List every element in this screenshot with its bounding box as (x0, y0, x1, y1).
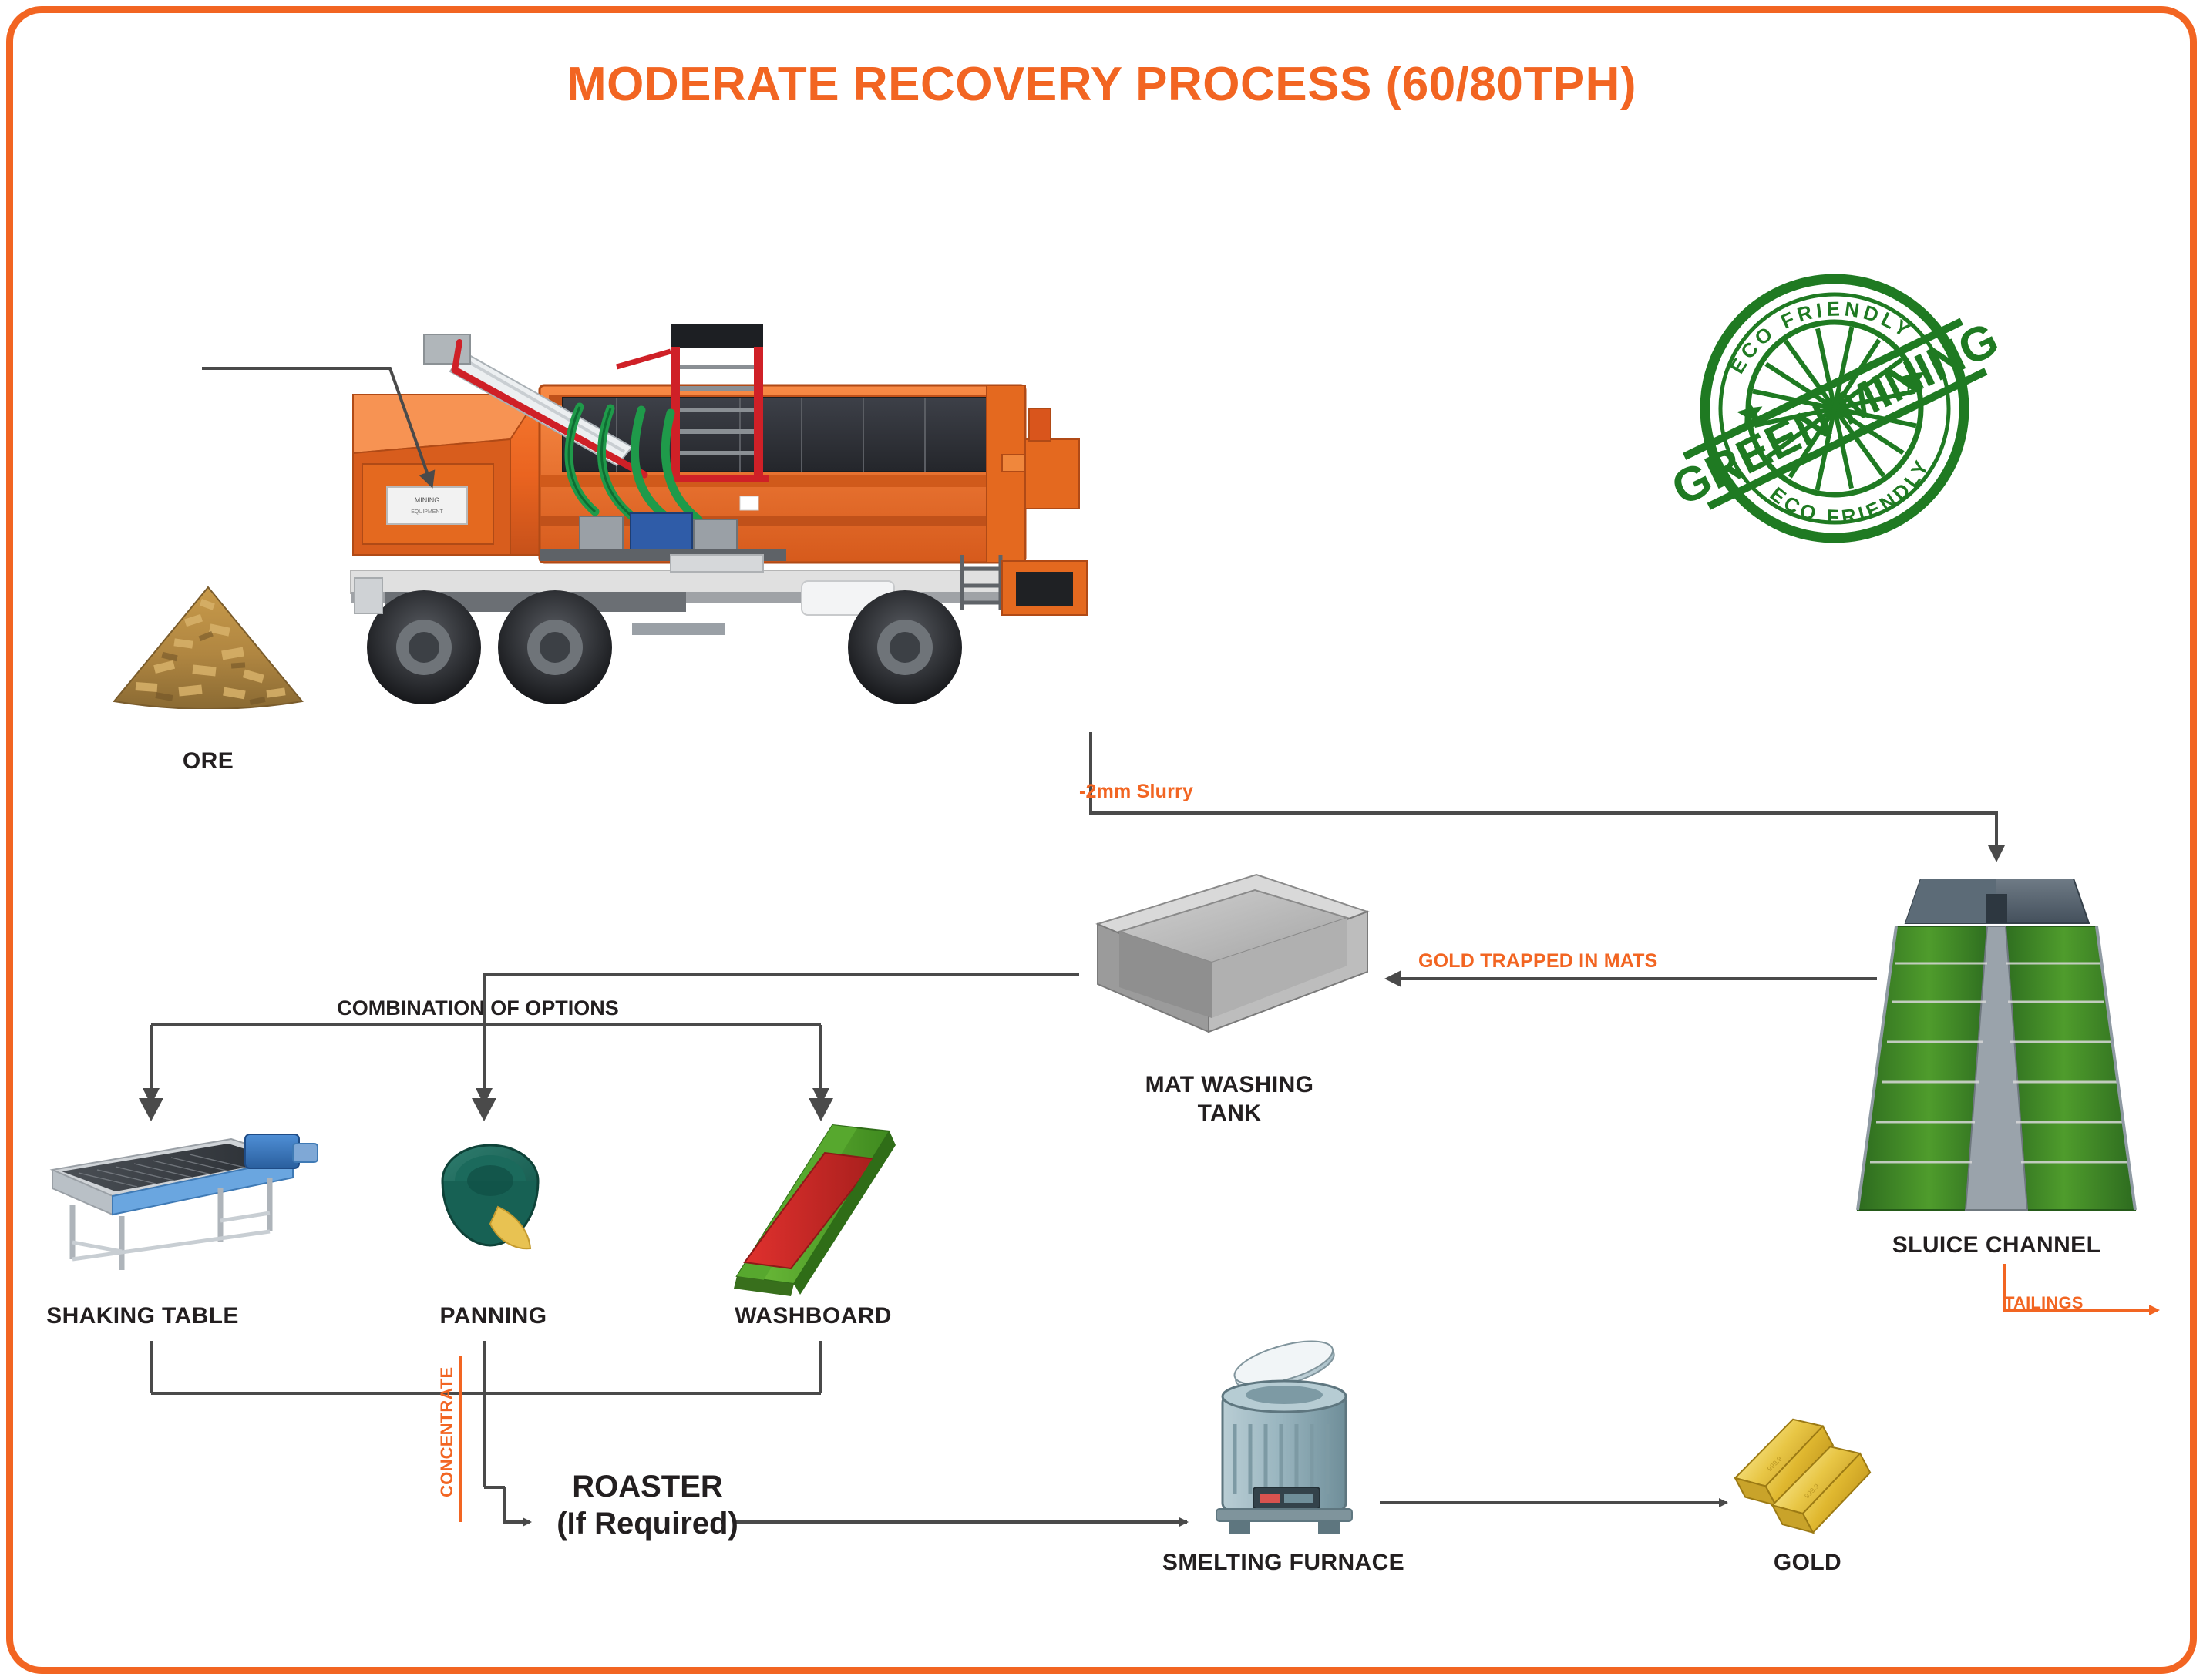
node-label-ore: ORE (131, 748, 285, 776)
flow-label-tailings: TAILINGS (2004, 1293, 2174, 1313)
panning-graphic (424, 1133, 563, 1279)
gold-bars-graphic: 999.9 999.9 (1730, 1410, 1892, 1541)
sluice-channel-graphic (1850, 879, 2143, 1241)
wash-plant-graphic: MINING EQUIPMENT (308, 324, 1179, 771)
flow-label-gold-trapped: GOLD TRAPPED IN MATS (1418, 949, 1711, 973)
washboard-graphic (717, 1117, 910, 1302)
node-label-washboard: WASHBOARD (686, 1302, 940, 1331)
shaking-table-graphic (39, 1119, 339, 1281)
flow-label-slurry: -2mm Slurry (1079, 780, 1280, 803)
ore-pile-graphic (108, 586, 308, 709)
node-label-roaster: ROASTER (If Required) (524, 1468, 771, 1542)
flow-label-combination: COMBINATION OF OPTIONS (277, 996, 678, 1020)
flow-label-concentrate: CONCENTRATE (437, 1347, 457, 1517)
stamp-main-text: GREEN MINING (1663, 312, 2006, 516)
node-label-smelting-furnace: SMELTING FURNACE (1110, 1549, 1457, 1578)
svg-text:EQUIPMENT: EQUIPMENT (411, 509, 443, 515)
green-mining-stamp: ECO FRIENDLY ECO FRIENDLY GREEN MINING (1634, 231, 2035, 586)
smelting-furnace-graphic (1195, 1333, 1372, 1541)
mat-washing-tank-graphic (1079, 867, 1380, 1067)
node-label-panning: PANNING (382, 1302, 605, 1331)
node-label-shaking-table: SHAKING TABLE (15, 1302, 270, 1331)
node-label-mat-washing-tank: MAT WASHING TANK (1098, 1071, 1360, 1127)
node-label-sluice-channel: SLUICE CHANNEL (1835, 1231, 2158, 1260)
diagram-canvas: MODERATE RECOVERY PROCESS (60/80TPH) (0, 0, 2203, 1680)
page-title: MODERATE RECOVERY PROCESS (60/80TPH) (0, 57, 2203, 112)
svg-text:MINING: MINING (415, 496, 440, 504)
node-label-gold: GOLD (1719, 1549, 1896, 1578)
